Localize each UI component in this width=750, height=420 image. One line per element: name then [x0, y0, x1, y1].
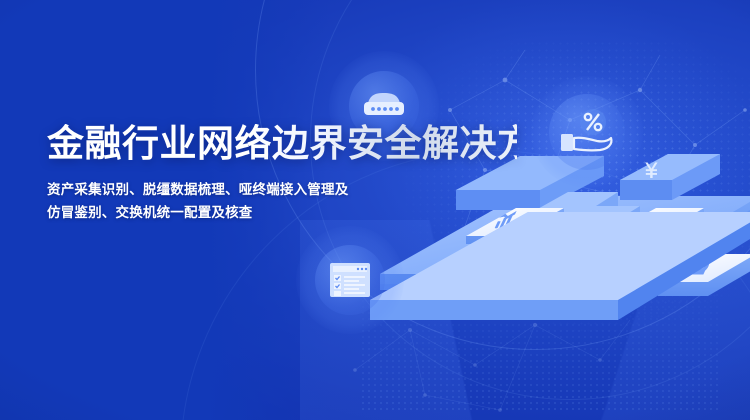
subtitle-line-1: 资产采集识别、脱缰数据梳理、哑终端接入管理及: [47, 178, 517, 201]
banner-root: 金融行业网络边界安全解决方案 资产采集识别、脱缰数据梳理、哑终端接入管理及 仿冒…: [0, 0, 750, 420]
hand-percent-icon: [558, 108, 616, 156]
document-checklist-icon: [328, 261, 372, 299]
page-subtitle: 资产采集识别、脱缰数据梳理、哑终端接入管理及 仿冒鉴别、交换机统一配置及核查: [47, 178, 517, 224]
subtitle-line-2: 仿冒鉴别、交换机统一配置及核查: [47, 201, 517, 224]
checklist-badge: [296, 226, 404, 334]
page-title: 金融行业网络边界安全解决方案: [47, 124, 517, 164]
hero-text-block: 金融行业网络边界安全解决方案 资产采集识别、脱缰数据梳理、哑终端接入管理及 仿冒…: [47, 124, 517, 224]
router-icon: [359, 89, 409, 123]
yen-cube: [620, 154, 720, 200]
